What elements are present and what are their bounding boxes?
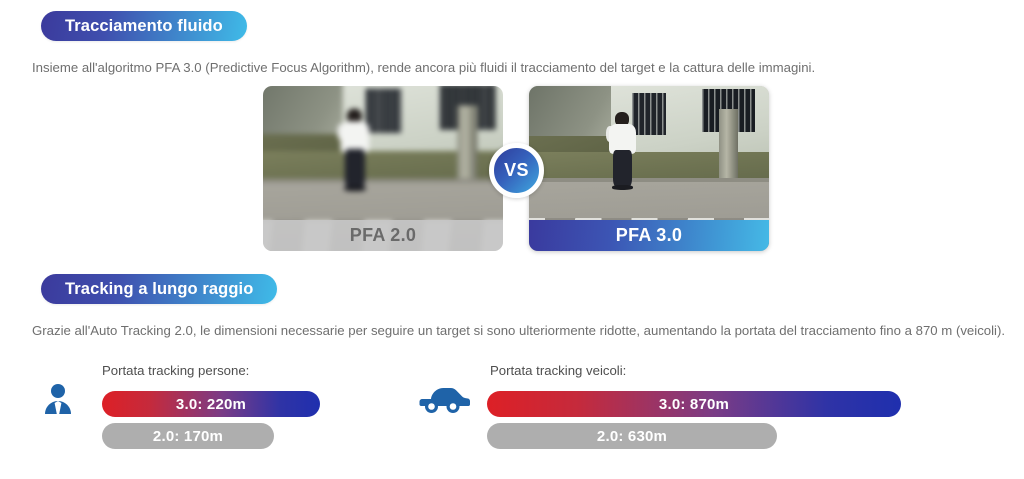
- comparison-photo-pfa-2: PFA 2.0: [263, 86, 503, 251]
- vs-badge: VS: [489, 143, 544, 198]
- range-label-vehicles: Portata tracking veicoli:: [490, 363, 626, 378]
- window-grille-icon: [365, 88, 401, 133]
- range-label-persons: Portata tracking persone:: [102, 363, 249, 378]
- section-badge-fluid-tracking: Tracciamento fluido: [41, 11, 247, 41]
- person-legs: [345, 149, 365, 189]
- person-icon: [32, 377, 84, 419]
- range-bar-vehicles-2: 2.0: 630m: [487, 423, 777, 449]
- window-left: [365, 88, 401, 133]
- long-range-tracking-description: Grazie all'Auto Tracking 2.0, le dimensi…: [32, 322, 1005, 339]
- range-bar-vehicles-3: 3.0: 870m: [487, 391, 901, 417]
- car-icon: [418, 377, 470, 419]
- person-shoe: [612, 185, 634, 190]
- photo-caption-pfa-3: PFA 3.0: [529, 220, 769, 251]
- window-grille-icon: [632, 93, 666, 136]
- person-torso: [341, 121, 369, 152]
- range-bar-persons-2: 2.0: 170m: [102, 423, 274, 449]
- photo-caption-pfa-2: PFA 2.0: [263, 220, 503, 251]
- person-legs: [613, 150, 632, 188]
- section-badge-long-range-tracking: Tracking a lungo raggio: [41, 274, 277, 304]
- window-left: [632, 93, 666, 136]
- person-torso: [609, 124, 635, 154]
- person-shoe: [344, 186, 367, 191]
- fluid-tracking-description: Insieme all'algoritmo PFA 3.0 (Predictiv…: [32, 59, 815, 76]
- comparison-photo-pfa-3: PFA 3.0: [529, 86, 769, 251]
- range-bar-persons-3: 3.0: 220m: [102, 391, 320, 417]
